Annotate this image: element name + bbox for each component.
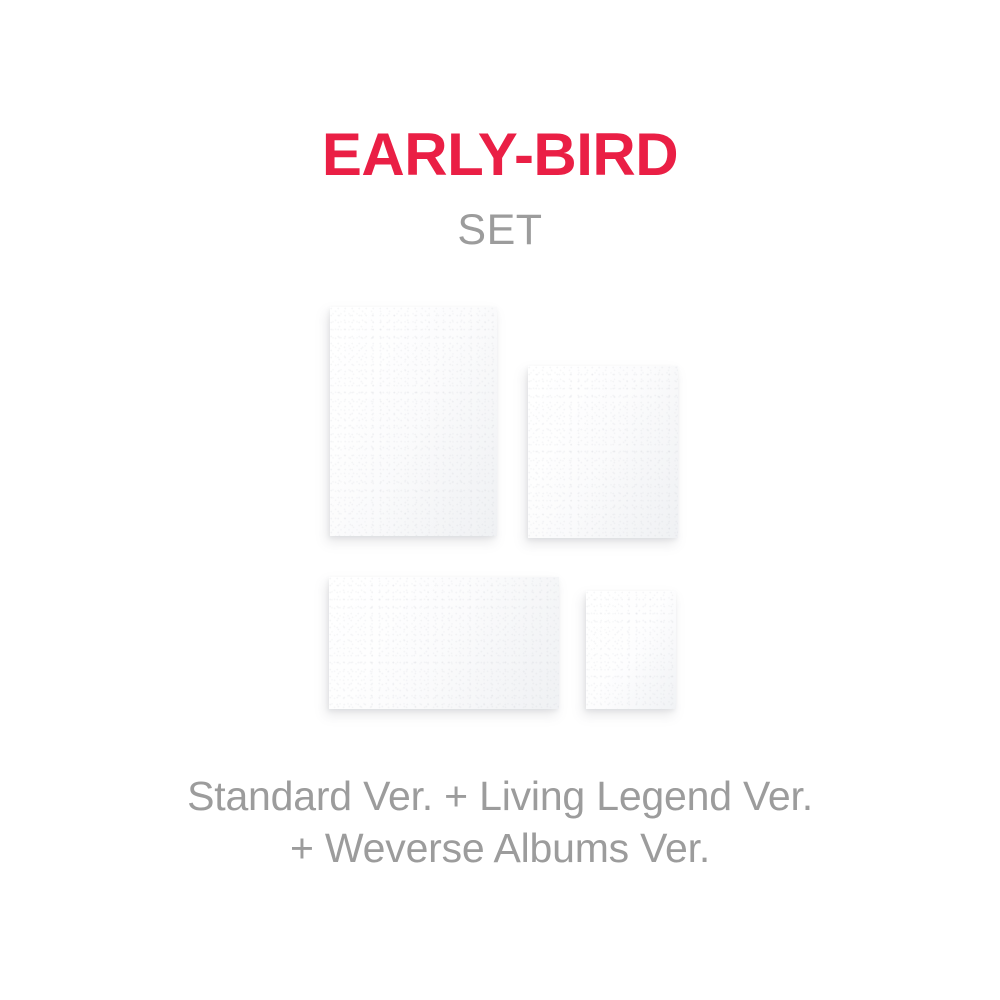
- description-line-1: Standard Ver. + Living Legend Ver.: [0, 770, 1000, 822]
- description-line-2: + Weverse Albums Ver.: [0, 822, 1000, 874]
- product-image-standard-album: [330, 307, 497, 536]
- product-image-photocard: [586, 591, 676, 709]
- product-promo-card: EARLY-BIRD SET Standard Ver. + Living Le…: [0, 0, 1000, 1000]
- product-image-weverse-album: [329, 577, 559, 709]
- product-set-description: Standard Ver. + Living Legend Ver. + Wev…: [0, 770, 1000, 874]
- product-image-living-legend-album: [528, 366, 678, 538]
